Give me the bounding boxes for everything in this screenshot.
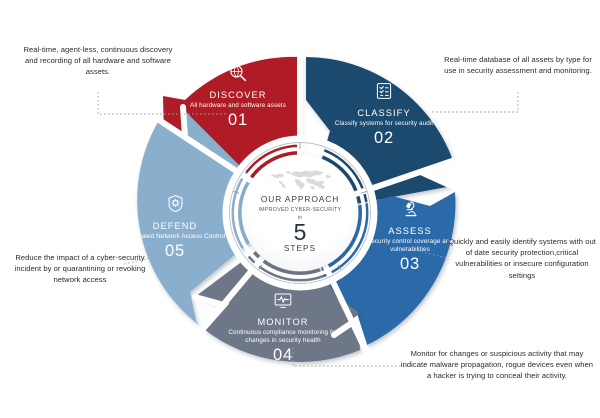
segment-label-monitor[interactable]: MONITOR Continuous compliance monitoring… <box>220 292 346 365</box>
microscope-icon <box>352 200 468 223</box>
note-discover: Real-time, agent-less, continuous discov… <box>18 44 178 78</box>
magnifier-globe-icon <box>183 64 293 87</box>
world-map-icon <box>268 169 332 191</box>
segment-desc: Integrated Network Access Control <box>118 233 232 241</box>
note-assess: Quickly and easily identify systems with… <box>446 236 598 281</box>
segment-title: DISCOVER <box>183 90 293 101</box>
segment-title: DEFEND <box>118 221 232 232</box>
note-classify: Real-time database of all assets by type… <box>440 54 596 76</box>
segment-desc: Classify systems for security audit <box>330 120 438 128</box>
hub-line-1: OUR APPROACH <box>261 194 339 204</box>
hub-line-2: IMPROVED CYBER-SECURITY <box>259 207 342 213</box>
segment-number: 04 <box>220 346 346 365</box>
monitor-pulse-icon <box>220 292 346 314</box>
note-defend: Reduce the impact of a cyber-security in… <box>4 252 156 286</box>
center-hub: OUR APPROACH IMPROVED CYBER-SECURITY in … <box>242 155 358 271</box>
hub-number: 5 <box>294 221 307 244</box>
hub-line-5: STEPS <box>284 244 316 253</box>
segment-number: 01 <box>183 111 293 130</box>
note-monitor: Monitor for changes or suspicious activi… <box>400 348 594 382</box>
shield-gear-icon <box>118 194 232 218</box>
segment-title: CLASSIFY <box>330 108 438 119</box>
segment-title: MONITOR <box>220 317 346 328</box>
segment-desc: All hardware and software assets <box>183 102 293 110</box>
segment-label-classify[interactable]: CLASSIFY Classify systems for security a… <box>330 82 438 148</box>
segment-label-discover[interactable]: DISCOVER All hardware and software asset… <box>183 64 293 130</box>
checklist-icon <box>330 82 438 105</box>
segment-number: 02 <box>330 129 438 148</box>
leader-classify <box>432 92 518 112</box>
diagram-canvas: DISCOVER All hardware and software asset… <box>0 0 600 418</box>
segment-desc: Continuous compliance monitoring for cha… <box>220 329 346 345</box>
